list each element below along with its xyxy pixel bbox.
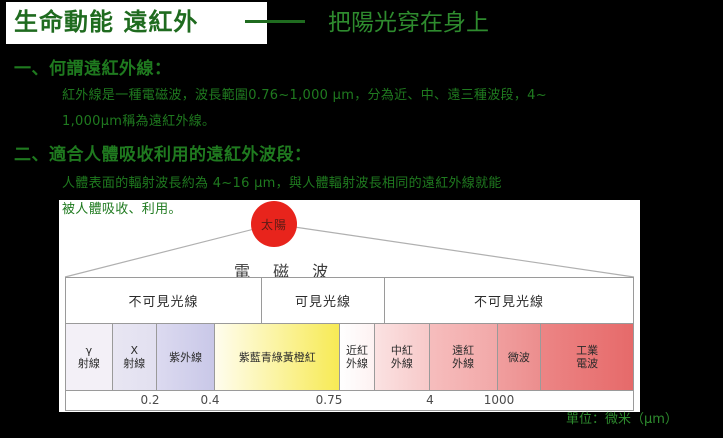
section-2-paragraph-line-1: 人體表面的輻射波長約為 4~16 µm，與人體輻射波長相同的遠紅外線就能 [62, 172, 502, 191]
visibility-group-label: 不可見光線 [474, 291, 544, 310]
title-dash-second-icon [272, 20, 298, 23]
axis-tick-5: 1000 [484, 393, 515, 407]
axis-unit-label: 單位：微米（µm） [566, 408, 678, 427]
spectrum-band-9: 工業電波 [541, 324, 633, 390]
visibility-group-label: 不可見光線 [128, 291, 198, 310]
spectrum-band-label: 中紅外線 [391, 344, 413, 370]
spectrum-band-6: 中紅外線 [375, 324, 430, 390]
axis-tick-2: 0.4 [200, 393, 219, 407]
section-2-heading: 二、適合人體吸收利用的遠紅外波段： [14, 140, 312, 165]
visibility-group-2: 可見光線 [262, 278, 385, 323]
visibility-group-3: 不可見光線 [385, 278, 633, 323]
visibility-group-label: 可見光線 [295, 291, 351, 310]
spectrum-band-label: X射線 [123, 344, 145, 370]
visibility-header-row: 不可見光線可見光線不可見光線 [65, 277, 634, 323]
axis-tick-4: 4 [426, 393, 434, 407]
sun-label: 太陽 [251, 201, 297, 247]
spectrum-band-row: γ射線X射線紫外線紫藍青綠黃橙紅近紅外線中紅外線遠紅外線微波工業電波 [65, 323, 634, 391]
axis-tick-1: 0.2 [140, 393, 159, 407]
section-1-heading: 一、何謂遠紅外線： [14, 54, 172, 79]
section-2-paragraph-line-2: 被人體吸收、利用。 [62, 198, 182, 217]
spectrum-band-label: 紫藍青綠黃橙紅 [239, 351, 316, 364]
electromagnetic-spectrum-diagram: 太陽 電 磁 波 不可見光線可見光線不可見光線 γ射線X射線紫外線紫藍青綠黃橙紅… [59, 200, 640, 412]
spectrum-band-7: 遠紅外線 [430, 324, 498, 390]
spectrum-band-label: 近紅外線 [346, 344, 368, 370]
page-subtitle: 把陽光穿在身上 [328, 8, 489, 38]
title-band: 生命動能 遠紅外 把陽光穿在身上 [0, 0, 723, 46]
spectrum-band-8: 微波 [498, 324, 542, 390]
spectrum-band-2: X射線 [113, 324, 157, 390]
sun-icon: 太陽 [251, 201, 297, 247]
spectrum-band-5: 近紅外線 [340, 324, 375, 390]
spectrum-band-label: 工業電波 [576, 344, 598, 370]
section-1-paragraph-line-2: 1,000µm稱為遠紅外線。 [62, 110, 215, 129]
spectrum-band-label: 紫外線 [169, 351, 202, 364]
spectrum-band-1: γ射線 [66, 324, 113, 390]
spectrum-band-label: γ射線 [78, 344, 100, 370]
spectrum-band-4: 紫藍青綠黃橙紅 [215, 324, 340, 390]
spectrum-band-label: 遠紅外線 [452, 344, 474, 370]
visibility-group-1: 不可見光線 [66, 278, 262, 323]
spectrum-band-label: 微波 [508, 351, 530, 364]
spectrum-table: 不可見光線可見光線不可見光線 γ射線X射線紫外線紫藍青綠黃橙紅近紅外線中紅外線遠… [65, 277, 634, 411]
section-1-paragraph-line-1: 紅外線是一種電磁波，波長範圍0.76~1,000 µm，分為近、中、遠三種波段，… [62, 84, 547, 103]
page-title: 生命動能 遠紅外 [14, 7, 198, 37]
wavelength-axis: 0.20.40.7541000 [65, 391, 634, 411]
axis-tick-3: 0.75 [316, 393, 343, 407]
spectrum-band-3: 紫外線 [157, 324, 216, 390]
